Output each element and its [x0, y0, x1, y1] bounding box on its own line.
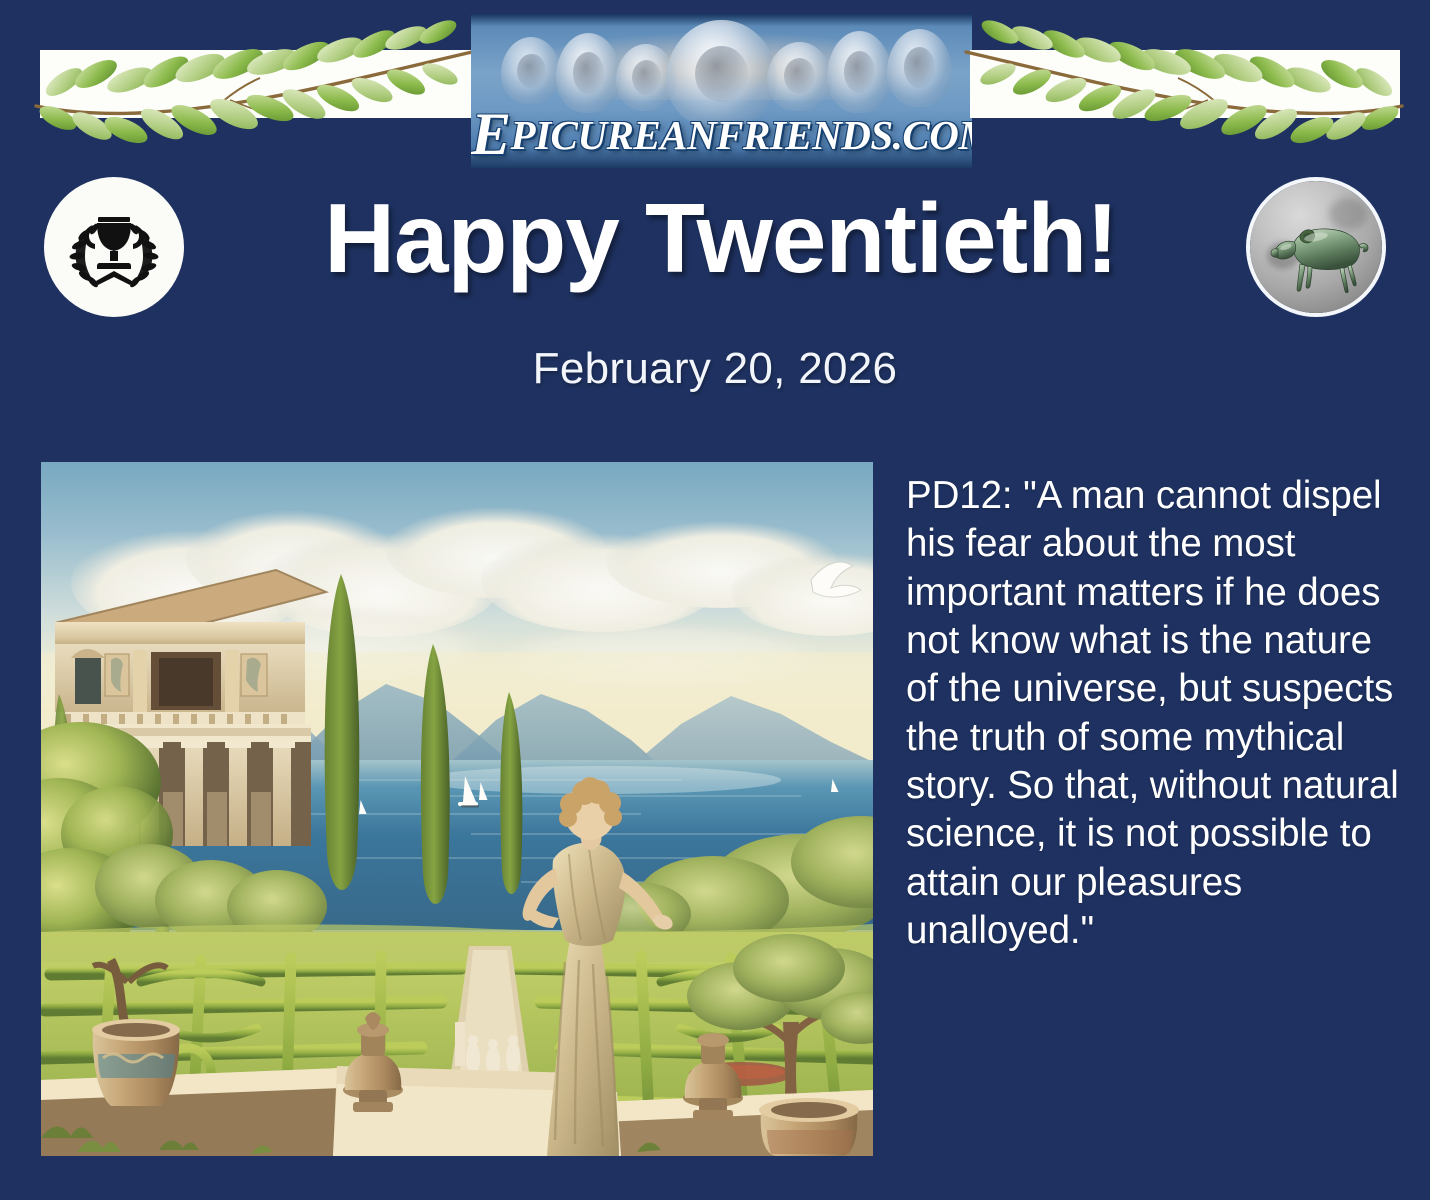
epicureanfriends-banner[interactable]: EPICUREANFRIENDS.COM: [471, 14, 972, 168]
banner-wordmark-rest: PICUREANFRIENDS.COM: [511, 112, 972, 158]
poster-root: EPICUREANFRIENDS.COM: [0, 0, 1430, 1200]
laurel-branch-icon: [964, 8, 1404, 160]
portrait-bust-7: [887, 29, 952, 107]
portrait-bust-2: [556, 33, 621, 113]
artwork-canvas: [41, 462, 873, 1156]
page-title: Happy Twentieth!: [196, 186, 1246, 292]
portrait-bust-6: [827, 31, 892, 113]
quote-text: PD12: "A man cannot dispel his fear abou…: [906, 472, 1406, 955]
banner-wordmark: EPICUREANFRIENDS.COM: [471, 104, 972, 164]
epicurean-garden-villa-painting: [41, 462, 873, 1156]
boar-statue-on-moon-icon: [1264, 213, 1376, 293]
boar-moon-badge: [1246, 177, 1386, 317]
trophy-badge: [44, 177, 184, 317]
trophy-laurel-wreath-icon: [64, 203, 164, 291]
laurel-branch-icon: [34, 8, 474, 160]
portrait-bust-1: [501, 37, 561, 104]
page-date: February 20, 2026: [0, 344, 1430, 394]
portrait-bust-5: [767, 42, 832, 111]
banner-wordmark-initial: E: [471, 101, 511, 167]
laurel-band-right: [970, 50, 1400, 118]
header-strip: EPICUREANFRIENDS.COM: [0, 0, 1430, 175]
body-row: PD12: "A man cannot dispel his fear abou…: [0, 462, 1430, 1162]
laurel-band-left: [40, 50, 472, 118]
title-row: Happy Twentieth!: [0, 172, 1430, 322]
